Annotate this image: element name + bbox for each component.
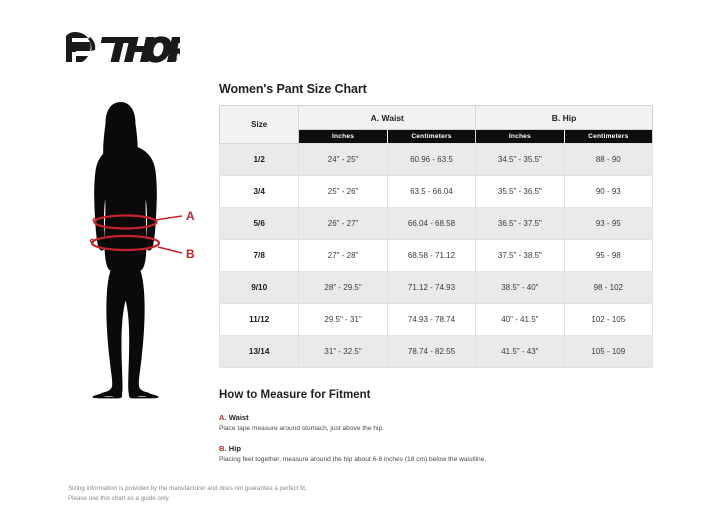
hip-callout-label: B xyxy=(186,247,195,261)
cell-waist-inches: 28" - 29.5" xyxy=(299,272,387,304)
disclaimer-line-2: Please use this chart as a guide only. xyxy=(68,494,488,504)
measure-letter-a: A. xyxy=(219,413,227,422)
size-chart-table: Size A. Waist B. Hip Inches Centimeters … xyxy=(219,105,653,368)
measure-letter-b: B. xyxy=(219,444,227,453)
cell-waist-centimeters: 68.58 - 71.12 xyxy=(387,240,475,272)
cell-size: 13/14 xyxy=(220,336,299,368)
how-to-measure-heading: How to Measure for Fitment xyxy=(219,389,653,402)
cell-hip-centimeters: 102 - 105 xyxy=(564,304,652,336)
measure-item-hip-label: B. Hip xyxy=(219,444,653,453)
size-chart-content: Women's Pant Size Chart Size A. Waist B.… xyxy=(219,82,653,475)
cell-hip-centimeters: 93 - 95 xyxy=(564,208,652,240)
svg-text:®: ® xyxy=(175,57,178,62)
cell-hip-inches: 40" - 41.5" xyxy=(476,304,564,336)
cell-waist-inches: 24" - 25" xyxy=(299,144,387,176)
measure-name-hip: Hip xyxy=(229,444,241,453)
brand-logo: ® xyxy=(62,28,182,68)
column-header-hip-inches: Inches xyxy=(476,130,564,144)
page-title: Women's Pant Size Chart xyxy=(219,82,653,96)
cell-hip-inches: 41.5" - 43" xyxy=(476,336,564,368)
table-row: 3/4 25" - 26" 63.5 - 66.04 35.5" - 36.5"… xyxy=(220,176,653,208)
table-row: 5/6 26" - 27" 66.04 - 68.58 36.5" - 37.5… xyxy=(220,208,653,240)
cell-waist-centimeters: 63.5 - 66.04 xyxy=(387,176,475,208)
cell-waist-inches: 25" - 26" xyxy=(299,176,387,208)
table-body: 1/2 24" - 25" 60.96 - 63.5 34.5" - 35.5"… xyxy=(220,144,653,368)
column-group-header-hip: B. Hip xyxy=(476,106,653,130)
table-group-header-row: Size A. Waist B. Hip xyxy=(220,106,653,130)
cell-hip-inches: 37.5" - 38.5" xyxy=(476,240,564,272)
measure-item-waist-label: A. Waist xyxy=(219,413,653,422)
how-to-measure-section: How to Measure for Fitment A. Waist Plac… xyxy=(219,389,653,464)
cell-hip-centimeters: 98 - 102 xyxy=(564,272,652,304)
cell-hip-centimeters: 105 - 109 xyxy=(564,336,652,368)
cell-hip-centimeters: 95 - 98 xyxy=(564,240,652,272)
disclaimer-line-1: Sizing information is provided by the ma… xyxy=(68,484,488,494)
cell-hip-inches: 35.5" - 36.5" xyxy=(476,176,564,208)
cell-hip-inches: 34.5" - 35.5" xyxy=(476,144,564,176)
disclaimer-footer: Sizing information is provided by the ma… xyxy=(68,484,488,503)
table-row: 9/10 28" - 29.5" 71.12 - 74.93 38.5" - 4… xyxy=(220,272,653,304)
female-silhouette-figure: A B xyxy=(60,100,210,400)
waist-callout-label: A xyxy=(186,209,195,223)
cell-waist-centimeters: 74.93 - 78.74 xyxy=(387,304,475,336)
hip-leader-line xyxy=(158,247,182,253)
column-header-hip-centimeters: Centimeters xyxy=(564,130,652,144)
thor-helmet-icon: ® xyxy=(62,30,180,66)
measure-desc-hip: Placing feet together, measure around th… xyxy=(219,455,653,464)
cell-waist-inches: 26" - 27" xyxy=(299,208,387,240)
table-head: Size A. Waist B. Hip Inches Centimeters … xyxy=(220,106,653,144)
table-row: 7/8 27" - 28" 68.58 - 71.12 37.5" - 38.5… xyxy=(220,240,653,272)
cell-waist-centimeters: 60.96 - 63.5 xyxy=(387,144,475,176)
cell-size: 3/4 xyxy=(220,176,299,208)
cell-size: 5/6 xyxy=(220,208,299,240)
measure-name-waist: Waist xyxy=(229,413,249,422)
cell-hip-inches: 38.5" - 40" xyxy=(476,272,564,304)
table-row: 11/12 29.5" - 31" 74.93 - 78.74 40" - 41… xyxy=(220,304,653,336)
column-header-waist-centimeters: Centimeters xyxy=(387,130,475,144)
body-measurement-diagram: A B xyxy=(60,100,210,400)
cell-hip-inches: 36.5" - 37.5" xyxy=(476,208,564,240)
measure-item-waist: A. Waist Place tape measure around stoma… xyxy=(219,413,653,433)
column-header-waist-inches: Inches xyxy=(299,130,387,144)
measure-item-hip: B. Hip Placing feet together, measure ar… xyxy=(219,444,653,464)
cell-waist-inches: 29.5" - 31" xyxy=(299,304,387,336)
cell-size: 9/10 xyxy=(220,272,299,304)
cell-hip-centimeters: 88 - 90 xyxy=(564,144,652,176)
cell-size: 7/8 xyxy=(220,240,299,272)
cell-waist-inches: 27" - 28" xyxy=(299,240,387,272)
measure-desc-waist: Place tape measure around stomach, just … xyxy=(219,424,653,433)
table-row: 13/14 31" - 32.5" 78.74 - 82.55 41.5" - … xyxy=(220,336,653,368)
cell-size: 1/2 xyxy=(220,144,299,176)
column-header-size: Size xyxy=(220,106,299,144)
cell-waist-inches: 31" - 32.5" xyxy=(299,336,387,368)
waist-leader-line xyxy=(155,216,182,220)
cell-waist-centimeters: 78.74 - 82.55 xyxy=(387,336,475,368)
cell-size: 11/12 xyxy=(220,304,299,336)
column-group-header-waist: A. Waist xyxy=(299,106,476,130)
cell-waist-centimeters: 71.12 - 74.93 xyxy=(387,272,475,304)
cell-hip-centimeters: 90 - 93 xyxy=(564,176,652,208)
cell-waist-centimeters: 66.04 - 68.58 xyxy=(387,208,475,240)
table-row: 1/2 24" - 25" 60.96 - 63.5 34.5" - 35.5"… xyxy=(220,144,653,176)
